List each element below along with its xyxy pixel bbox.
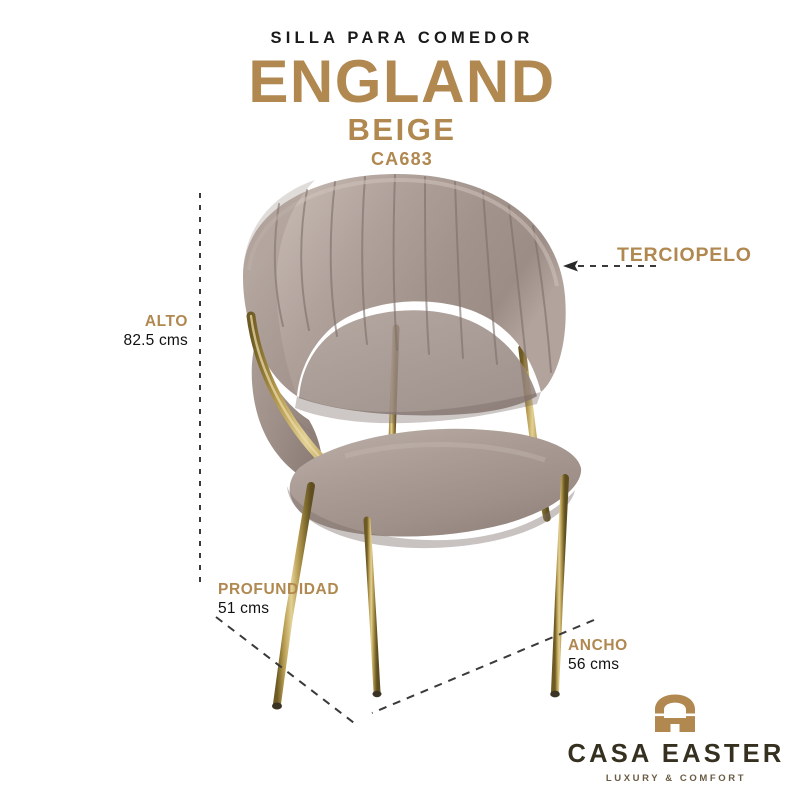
dimension-alto-title: ALTO xyxy=(58,313,188,331)
dimension-alto: ALTO 82.5 cms xyxy=(58,313,188,351)
dimension-profundidad-title: PROFUNDIDAD xyxy=(218,581,339,599)
product-title: ENGLAND xyxy=(0,53,800,110)
product-category: SILLA PARA COMEDOR xyxy=(0,30,800,47)
chair-seat xyxy=(287,429,581,548)
dimension-ancho-title: ANCHO xyxy=(568,637,628,655)
dimension-ancho: ANCHO 56 cms xyxy=(568,637,628,675)
chair-backrest xyxy=(243,174,566,423)
material-callout-label: TERCIOPELO xyxy=(617,244,752,267)
product-header: SILLA PARA COMEDOR ENGLAND BEIGE CA683 xyxy=(0,30,800,168)
brand-tagline: LUXURY & COMFORT xyxy=(553,774,796,784)
house-arch-icon xyxy=(651,692,699,736)
brand-logo: CASA EASTER LUXURY & COMFORT xyxy=(553,692,796,783)
dimension-profundidad: PROFUNDIDAD 51 cms xyxy=(218,581,339,619)
brand-wordmark: CASA EASTER xyxy=(553,742,796,768)
dimension-profundidad-value: 51 cms xyxy=(218,599,339,619)
product-photo xyxy=(225,168,585,728)
product-sku: CA683 xyxy=(0,150,800,168)
dimension-ancho-value: 56 cms xyxy=(568,655,628,675)
product-variant: BEIGE xyxy=(0,114,800,145)
dimension-alto-value: 82.5 cms xyxy=(58,331,188,351)
